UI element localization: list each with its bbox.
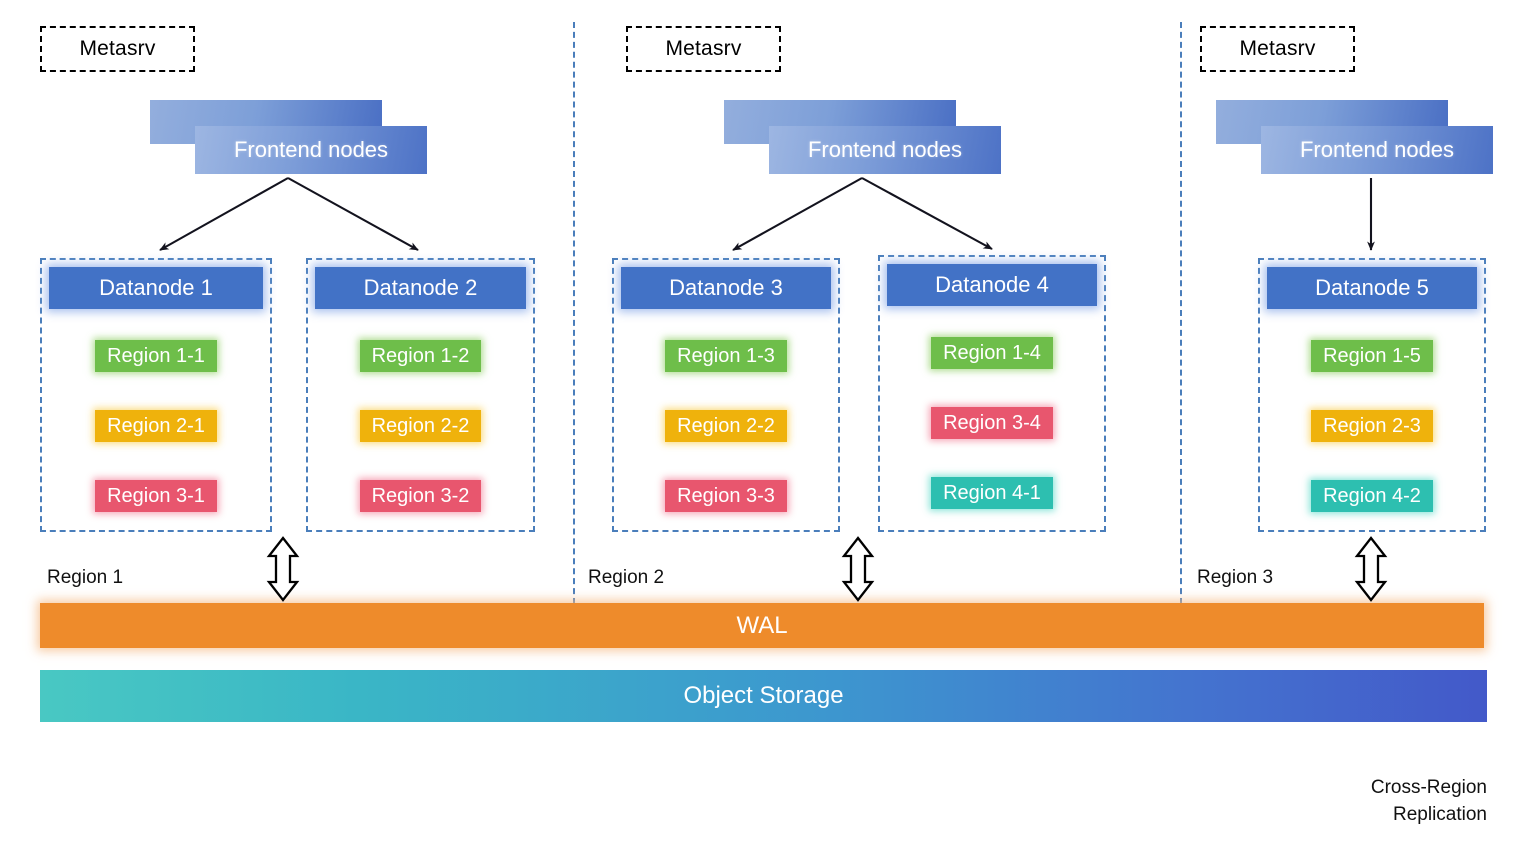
datanode-label: Datanode 1 (99, 275, 213, 301)
region-chip-label: Region 1-4 (943, 342, 1041, 365)
datanode-box-5[interactable]: Datanode 5 Region 1-5 Region 2-3 Region … (1258, 258, 1486, 532)
frontend-nodes-zone-2[interactable]: Frontend nodes (724, 100, 1004, 178)
region-chip[interactable]: Region 1-5 (1311, 340, 1433, 372)
region-chip-label: Region 2-2 (372, 415, 470, 438)
region-list-4: Region 1-4 Region 3-4 Region 4-1 (880, 337, 1104, 509)
datanode-box-3[interactable]: Datanode 3 Region 1-3 Region 2-2 Region … (612, 258, 840, 532)
zone-label-region-2: Region 2 (588, 567, 664, 589)
region-chip[interactable]: Region 1-2 (360, 340, 482, 372)
datanode-box-4[interactable]: Datanode 4 Region 1-4 Region 3-4 Region … (878, 255, 1106, 532)
cross-region-replication-note: Cross-Region Replication (1247, 746, 1487, 829)
region-list-1: Region 1-1 Region 2-1 Region 3-1 (42, 340, 270, 512)
cross-region-replication-text: Cross-Region Replication (1371, 777, 1487, 826)
region-chip-label: Region 1-1 (107, 345, 205, 368)
frontend-card-front: Frontend nodes (195, 126, 427, 174)
region-chip-label: Region 3-1 (107, 485, 205, 508)
zone-separator-2 (1180, 22, 1182, 604)
datanode-header-4: Datanode 4 (887, 264, 1097, 306)
datanode-label: Datanode 2 (364, 275, 478, 301)
metasrv-label: Metasrv (1239, 37, 1315, 61)
region-chip-label: Region 3-4 (943, 412, 1041, 435)
zone-label-text: Region 2 (588, 567, 664, 588)
region-chip[interactable]: Region 1-3 (665, 340, 787, 372)
wal-sync-arrow-zone-1 (269, 538, 297, 600)
zone-label-region-3: Region 3 (1197, 567, 1273, 589)
zone-label-text: Region 1 (47, 567, 123, 588)
frontend-label: Frontend nodes (234, 137, 388, 163)
region-chip[interactable]: Region 4-1 (931, 477, 1053, 509)
region-chip-label: Region 4-2 (1323, 485, 1421, 508)
region-chip[interactable]: Region 2-2 (360, 410, 482, 442)
region-chip-label: Region 1-3 (677, 345, 775, 368)
metasrv-label: Metasrv (79, 37, 155, 61)
datanode-label: Datanode 3 (669, 275, 783, 301)
datanode-box-1[interactable]: Datanode 1 Region 1-1 Region 2-1 Region … (40, 258, 272, 532)
datanode-box-2[interactable]: Datanode 2 Region 1-2 Region 2-2 Region … (306, 258, 535, 532)
region-chip[interactable]: Region 1-1 (95, 340, 217, 372)
frontend-card-front: Frontend nodes (769, 126, 1001, 174)
datanode-label: Datanode 5 (1315, 275, 1429, 301)
region-chip[interactable]: Region 3-4 (931, 407, 1053, 439)
region-list-3: Region 1-3 Region 2-2 Region 3-3 (614, 340, 838, 512)
datanode-header-3: Datanode 3 (621, 267, 831, 309)
frontend-nodes-zone-3[interactable]: Frontend nodes (1216, 100, 1496, 178)
region-chip[interactable]: Region 3-1 (95, 480, 217, 512)
region-chip-label: Region 2-3 (1323, 415, 1421, 438)
region-chip[interactable]: Region 2-2 (665, 410, 787, 442)
wal-label: WAL (736, 612, 787, 640)
datanode-header-2: Datanode 2 (315, 267, 526, 309)
region-chip-label: Region 1-2 (372, 345, 470, 368)
region-chip[interactable]: Region 4-2 (1311, 480, 1433, 512)
frontend-label: Frontend nodes (808, 137, 962, 163)
architecture-diagram: Metasrv Frontend nodes Datanode 1 Region… (0, 0, 1514, 842)
region-list-2: Region 1-2 Region 2-2 Region 3-2 (308, 340, 533, 512)
wal-bar[interactable]: WAL (40, 603, 1484, 648)
arrow-frontend-to-datanode-3 (733, 178, 862, 250)
region-chip-label: Region 4-1 (943, 482, 1041, 505)
wal-sync-arrow-zone-3 (1357, 538, 1385, 600)
region-chip[interactable]: Region 3-3 (665, 480, 787, 512)
metasrv-box-zone-2[interactable]: Metasrv (626, 26, 781, 72)
arrow-frontend-to-datanode-2 (288, 178, 418, 250)
region-chip-label: Region 2-2 (677, 415, 775, 438)
object-storage-label: Object Storage (683, 682, 843, 710)
wal-sync-arrow-zone-2 (844, 538, 872, 600)
zone-separator-1 (573, 22, 575, 604)
datanode-label: Datanode 4 (935, 272, 1049, 298)
region-list-5: Region 1-5 Region 2-3 Region 4-2 (1260, 340, 1484, 512)
frontend-card-front: Frontend nodes (1261, 126, 1493, 174)
region-chip[interactable]: Region 3-2 (360, 480, 482, 512)
zone-label-region-1: Region 1 (47, 567, 123, 589)
zone-label-text: Region 3 (1197, 567, 1273, 588)
frontend-label: Frontend nodes (1300, 137, 1454, 163)
region-chip-label: Region 1-5 (1323, 345, 1421, 368)
region-chip[interactable]: Region 1-4 (931, 337, 1053, 369)
metasrv-box-zone-3[interactable]: Metasrv (1200, 26, 1355, 72)
region-chip-label: Region 3-2 (372, 485, 470, 508)
object-storage-bar[interactable]: Object Storage (40, 670, 1487, 722)
datanode-header-5: Datanode 5 (1267, 267, 1477, 309)
arrow-frontend-to-datanode-1 (160, 178, 288, 250)
region-chip[interactable]: Region 2-1 (95, 410, 217, 442)
frontend-nodes-zone-1[interactable]: Frontend nodes (150, 100, 430, 178)
region-chip[interactable]: Region 2-3 (1311, 410, 1433, 442)
metasrv-label: Metasrv (665, 37, 741, 61)
arrow-frontend-to-datanode-4 (862, 178, 992, 249)
region-chip-label: Region 3-3 (677, 485, 775, 508)
region-chip-label: Region 2-1 (107, 415, 205, 438)
metasrv-box-zone-1[interactable]: Metasrv (40, 26, 195, 72)
datanode-header-1: Datanode 1 (49, 267, 263, 309)
